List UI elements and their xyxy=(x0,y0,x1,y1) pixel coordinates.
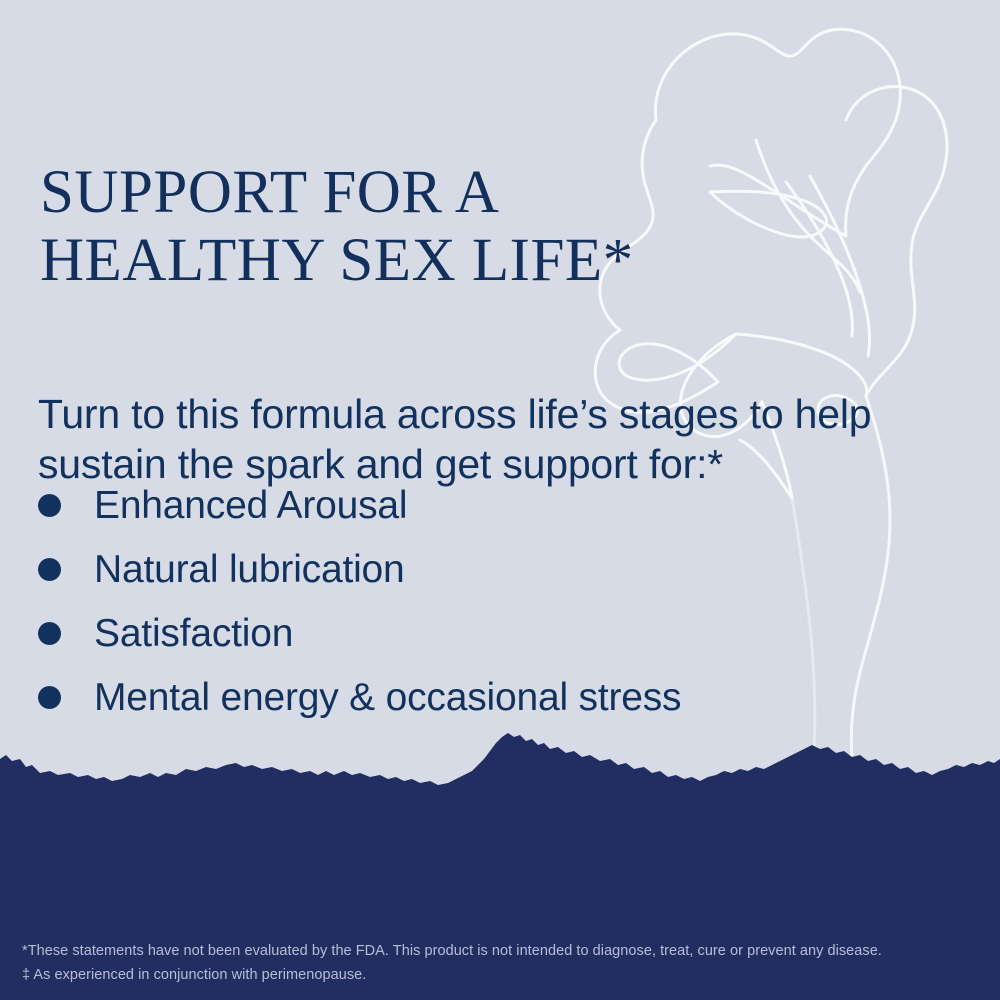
footnotes: *These statements have not been evaluate… xyxy=(22,940,982,987)
footnote-line: ‡ As experienced in conjunction with per… xyxy=(22,964,982,987)
bullet-dot-icon xyxy=(38,558,61,581)
list-item: Enhanced Arousal xyxy=(38,473,681,537)
list-item: Satisfaction xyxy=(38,601,681,665)
bullet-dot-icon xyxy=(38,494,61,517)
footer-panel: *These statements have not been evaluate… xyxy=(0,725,1000,1000)
benefit-label: Mental energy & occasional stress xyxy=(94,678,681,717)
footnote-line: *These statements have not been evaluate… xyxy=(22,940,982,963)
list-item: Natural lubrication xyxy=(38,537,681,601)
benefits-list: Enhanced Arousal Natural lubrication Sat… xyxy=(38,473,681,729)
benefit-label: Satisfaction xyxy=(94,614,293,653)
bullet-dot-icon xyxy=(38,686,61,709)
bullet-dot-icon xyxy=(38,622,61,645)
benefit-label: Natural lubrication xyxy=(94,550,405,589)
benefit-label: Enhanced Arousal xyxy=(94,486,407,525)
promo-graphic: SUPPORT FOR A HEALTHY SEX LIFE* Turn to … xyxy=(0,0,1000,1000)
torn-edge-divider xyxy=(0,725,1000,805)
page-title: SUPPORT FOR A HEALTHY SEX LIFE* xyxy=(40,159,700,296)
list-item: Mental energy & occasional stress xyxy=(38,665,681,729)
